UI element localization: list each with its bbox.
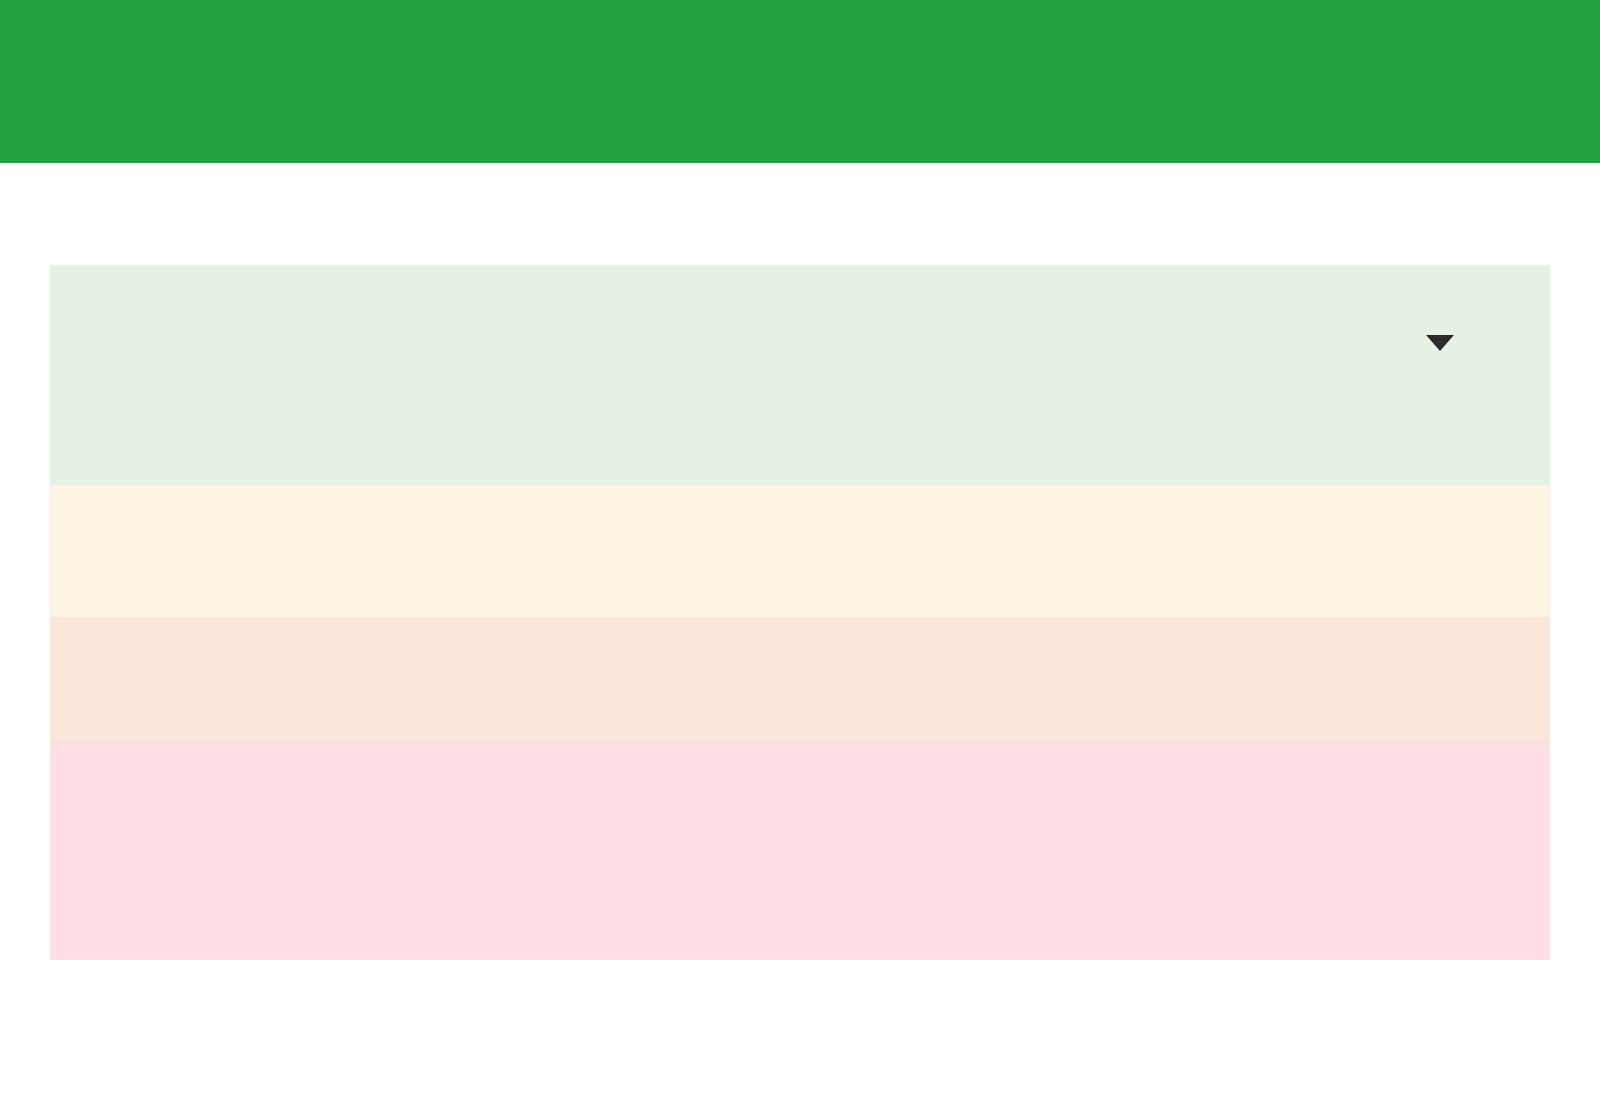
band-detail	[50, 739, 1550, 960]
band-management	[50, 485, 1550, 617]
band-leadership	[50, 265, 1550, 485]
org-chart	[50, 265, 1550, 960]
band-team	[50, 617, 1550, 739]
chevron-down-icon	[1426, 335, 1454, 351]
header-banner	[0, 0, 1600, 163]
infographic-page	[0, 0, 1600, 1100]
